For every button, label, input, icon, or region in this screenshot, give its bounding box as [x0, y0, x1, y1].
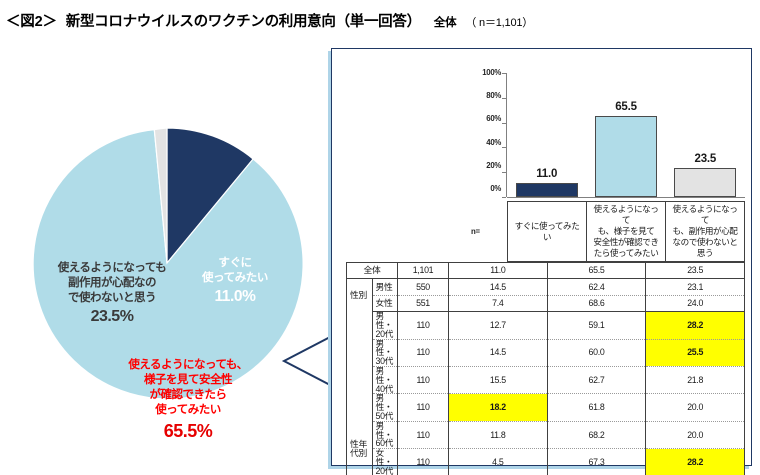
- cell-v1: 61.8: [547, 394, 646, 421]
- y-tick-0: 0%: [490, 185, 501, 193]
- y-tick-40: 40%: [486, 139, 501, 147]
- pie-label-wait-and-see-line3: が確認できたら: [150, 389, 227, 401]
- pie-label-will-not-use-line1: 使えるようになっても: [58, 262, 167, 274]
- axis-tick-40: [502, 147, 506, 148]
- axis-tick-80: [502, 98, 506, 99]
- row-label: 男性・30代: [372, 339, 398, 366]
- row-label: 男性: [372, 279, 398, 295]
- bar-value-immediate: 11.0: [536, 168, 557, 180]
- cat1-l2: も、様子を見て: [598, 226, 655, 236]
- category-header-will-not-use: 使えるようになって も、副作用が心配 なので使わないと 思う: [666, 202, 744, 261]
- cat2-l3: なので使わないと: [672, 237, 737, 247]
- bar-wait-and-see: [595, 116, 657, 197]
- cell-n: 110: [398, 394, 449, 421]
- row-label: 男性・50代: [372, 394, 398, 421]
- cat2-l4: 思う: [697, 248, 713, 258]
- cell-v0: 12.7: [449, 312, 548, 339]
- cell-n: 551: [398, 295, 449, 311]
- pie-label-immediate-line1: すぐに: [218, 257, 251, 269]
- category-header-wait-and-see: 使えるようになって も、様子を見て 安全性が確認でき たら使ってみたい: [587, 202, 666, 261]
- pie-label-wait-and-see-line1: 使えるようになっても、: [128, 359, 247, 371]
- category-header-immediate: すぐに使ってみたい: [508, 202, 587, 261]
- cat1-l3: 安全性が確認でき: [593, 237, 658, 247]
- cell-v2: 20.0: [646, 421, 745, 448]
- page-title: ＜図2＞ 新型コロナウイルスのワクチンの利用意向（単一回答） 全体 （ n＝1,…: [6, 10, 533, 31]
- bar-chart-plot-area: 11.0 65.5 23.5: [507, 73, 745, 197]
- pie-label-will-not-use-percent: 23.5%: [48, 307, 176, 328]
- bar-chart-baseline: [507, 197, 745, 198]
- cell-v2: 23.5: [646, 263, 745, 279]
- cell-v1: 59.1: [547, 312, 646, 339]
- cell-v1: 65.5: [547, 263, 646, 279]
- pie-label-wait-and-see-line2: 様子を見て安全性: [144, 374, 232, 386]
- y-tick-60: 60%: [486, 116, 501, 124]
- category-header-immediate-text: すぐに使ってみたい: [511, 221, 583, 243]
- table-row: 全体 1,101 11.0 65.5 23.5: [347, 263, 745, 279]
- cell-n: 110: [398, 421, 449, 448]
- cell-n: 110: [398, 312, 449, 339]
- cell-v0: 7.4: [449, 295, 548, 311]
- figure-tag: ＜図2＞: [6, 10, 57, 31]
- cat2-l1: 使えるようになって: [673, 204, 738, 225]
- row-label: 女性: [372, 295, 398, 311]
- category-header-band: すぐに使ってみたい 使えるようになって も、様子を見て 安全性が確認でき たら使…: [507, 201, 745, 262]
- cell-v2: 24.0: [646, 295, 745, 311]
- scope-n: （ n＝1,101）: [465, 14, 533, 30]
- table-row: 性年代別 男性・20代 110 12.7 59.1 28.2: [347, 312, 745, 339]
- pie-label-will-not-use: 使えるようになっても 副作用が心配なの で使わないと思う 23.5%: [48, 261, 176, 328]
- y-tick-20: 20%: [486, 162, 501, 170]
- table-row: 女性 551 7.4 68.6 24.0: [347, 295, 745, 311]
- cell-v2: 21.8: [646, 366, 745, 393]
- scope-label: 全体: [434, 14, 457, 30]
- bar-immediate: [516, 183, 578, 197]
- cell-n: 550: [398, 279, 449, 295]
- cell-v0: 15.5: [449, 366, 548, 393]
- table-row: 男性・40代 110 15.5 62.7 21.8: [347, 366, 745, 393]
- cell-v2: 23.1: [646, 279, 745, 295]
- bar-will-not-use: [674, 168, 736, 197]
- detail-panel: 100% 80% 60% 40% 20% 0% 11.0 65.5: [331, 48, 752, 466]
- bar-value-wait-and-see: 65.5: [615, 101, 637, 113]
- row-label: 男性・20代: [372, 312, 398, 339]
- cell-v0: 14.5: [449, 279, 548, 295]
- data-table: 全体 1,101 11.0 65.5 23.5 性別 男性 550 14.5 6…: [346, 262, 745, 475]
- table-row: 男性・60代 110 11.8 68.2 20.0: [347, 421, 745, 448]
- bar-column-immediate: 11.0: [507, 73, 586, 197]
- cell-n: 1,101: [398, 263, 449, 279]
- table-row: 男性・50代 110 18.2 61.8 20.0: [347, 394, 745, 421]
- table-row: 男性・30代 110 14.5 60.0 25.5: [347, 339, 745, 366]
- cat1-l1: 使えるようになって: [594, 204, 659, 225]
- cell-n: 110: [398, 366, 449, 393]
- cell-n: 110: [398, 449, 449, 475]
- row-label: 女性・20代: [372, 449, 398, 475]
- pie-label-immediate: すぐに 使ってみたい 11.0%: [194, 256, 276, 307]
- cell-v2: 25.5: [646, 339, 745, 366]
- bar-chart-y-axis: 100% 80% 60% 40% 20% 0%: [461, 73, 501, 197]
- pie-label-wait-and-see: 使えるようになっても、 様子を見て安全性 が確認できたら 使ってみたい 65.5…: [108, 358, 268, 443]
- cell-v0: 18.2: [449, 394, 548, 421]
- cell-v1: 68.6: [547, 295, 646, 311]
- cell-v2: 28.2: [646, 449, 745, 475]
- pie-label-will-not-use-line2: 副作用が心配なの: [68, 277, 156, 289]
- axis-tick-100: [502, 73, 506, 74]
- axis-tick-60: [502, 123, 506, 124]
- cell-v0: 14.5: [449, 339, 548, 366]
- cell-v1: 60.0: [547, 339, 646, 366]
- cell-v1: 67.3: [547, 449, 646, 475]
- infographic-root: ＜図2＞ 新型コロナウイルスのワクチンの利用意向（単一回答） 全体 （ n＝1,…: [0, 0, 760, 475]
- axis-tick-0: [502, 197, 506, 198]
- n-equals-label: n=: [471, 227, 480, 236]
- cell-n: 110: [398, 339, 449, 366]
- group-label-sex-age: 性年代別: [347, 312, 373, 475]
- y-tick-80: 80%: [486, 92, 501, 100]
- cell-v1: 68.2: [547, 421, 646, 448]
- pie-label-wait-and-see-line4: 使ってみたい: [155, 404, 220, 416]
- cell-v1: 62.4: [547, 279, 646, 295]
- row-label-total: 全体: [347, 263, 398, 279]
- cat2-l2: も、副作用が心配: [673, 226, 738, 236]
- title-text: 新型コロナウイルスのワクチンの利用意向（単一回答）: [66, 10, 421, 31]
- cell-v0: 11.0: [449, 263, 548, 279]
- y-tick-100: 100%: [482, 69, 501, 77]
- cell-v0: 11.8: [449, 421, 548, 448]
- pie-label-immediate-line2: 使ってみたい: [202, 272, 268, 284]
- group-label-sex: 性別: [347, 279, 373, 312]
- pie-chart: すぐに 使ってみたい 11.0% 使えるようになっても 副作用が心配なの で使わ…: [26, 118, 308, 408]
- bar-column-wait-and-see: 65.5: [586, 73, 665, 197]
- row-label: 男性・60代: [372, 421, 398, 448]
- cat1-l4: たら使ってみたい: [594, 248, 659, 258]
- table-row: 性別 男性 550 14.5 62.4 23.1: [347, 279, 745, 295]
- pie-label-immediate-percent: 11.0%: [194, 287, 276, 307]
- cell-v0: 4.5: [449, 449, 548, 475]
- cell-v1: 62.7: [547, 366, 646, 393]
- pie-label-wait-and-see-percent: 65.5%: [108, 420, 268, 443]
- bar-column-will-not-use: 23.5: [666, 73, 745, 197]
- bar-value-will-not-use: 23.5: [695, 153, 717, 165]
- row-label: 男性・40代: [372, 366, 398, 393]
- cell-v2: 20.0: [646, 394, 745, 421]
- table-row: 女性・20代 110 4.5 67.3 28.2: [347, 449, 745, 475]
- cell-v2: 28.2: [646, 312, 745, 339]
- axis-tick-20: [502, 172, 506, 173]
- pie-label-will-not-use-line3: で使わないと思う: [68, 292, 156, 304]
- data-table-body: 全体 1,101 11.0 65.5 23.5 性別 男性 550 14.5 6…: [347, 263, 745, 475]
